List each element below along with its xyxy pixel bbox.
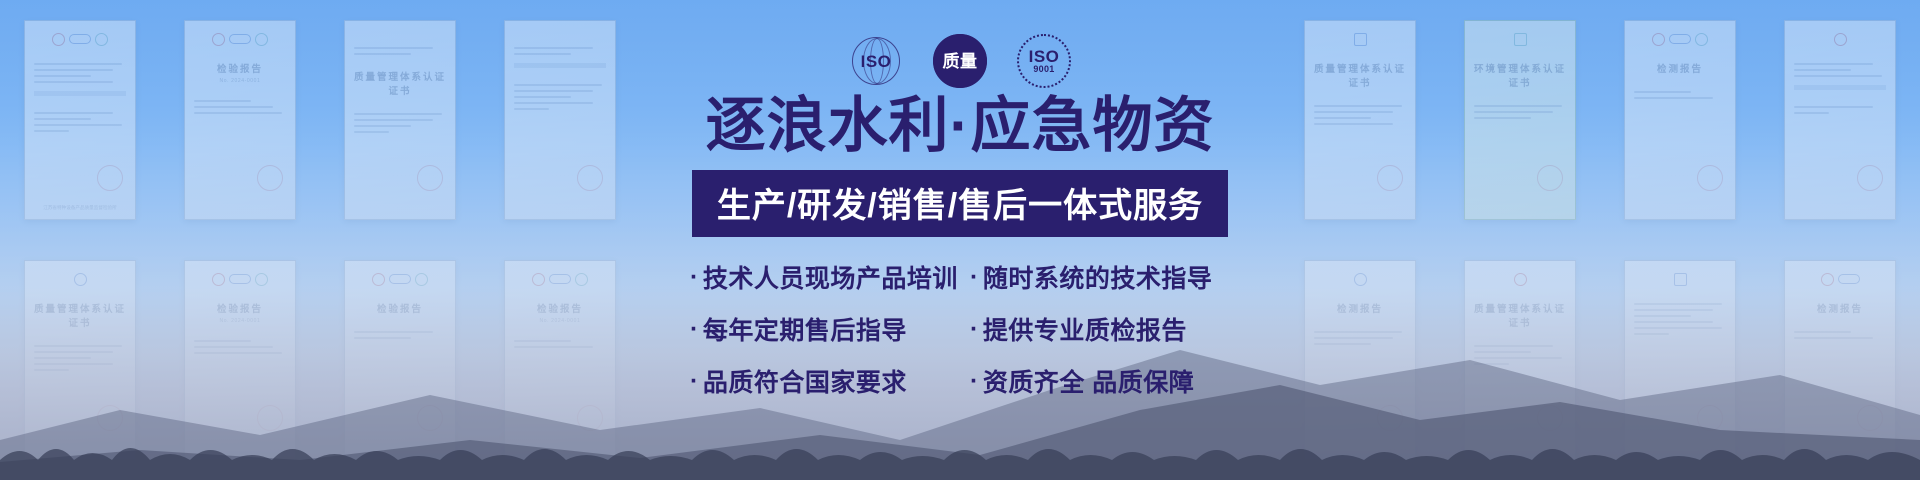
certificate-card: 江苏省特种设备产品质量监督检验所: [24, 20, 136, 220]
feature-item: · 品质符合国家要求: [690, 363, 970, 399]
feature-label: 随时系统的技术指导: [983, 259, 1213, 295]
feature-list: · 技术人员现场产品培训 · 随时系统的技术指导 · 每年定期售后指导 · 提供…: [660, 259, 1260, 399]
feature-item: · 随时系统的技术指导: [970, 259, 1230, 295]
certificate-card: [1784, 20, 1896, 220]
bullet-icon: ·: [970, 315, 979, 344]
iso-globe-badge-icon: ISO: [849, 34, 903, 88]
certificate-card: 质量管理体系认证证书: [1304, 20, 1416, 220]
bullet-icon: ·: [970, 263, 979, 292]
certificate-cell: 质量管理体系认证证书: [320, 0, 480, 240]
bullet-icon: ·: [970, 367, 979, 396]
emblem-icon: [95, 33, 108, 46]
certificate-card: 环境管理体系认证证书: [1464, 20, 1576, 220]
bullet-icon: ·: [690, 367, 699, 396]
certificate-cell: [1760, 0, 1920, 240]
certificate-footer: 江苏省特种设备产品质量监督检验所: [25, 205, 135, 211]
certificate-cell: 检测报告: [1600, 0, 1760, 240]
feature-label: 技术人员现场产品培训: [703, 259, 958, 295]
feature-label: 每年定期售后指导: [703, 311, 907, 347]
certificate-title: 环境管理体系认证证书: [1474, 61, 1566, 89]
certificate-title: 质量管理体系认证证书: [1314, 61, 1406, 89]
banner-content: 逐浪水利·应急物资 生产/研发/销售/售后一体式服务 · 技术人员现场产品培训 …: [660, 96, 1260, 399]
certificate-card: [504, 20, 616, 220]
emblem-icon: [52, 33, 65, 46]
feature-item: · 提供专业质检报告: [970, 311, 1230, 347]
quality-seal-badge-icon: 质量: [933, 34, 987, 88]
certificate-cell: [480, 0, 640, 240]
certificate-emblems: [34, 31, 126, 47]
feature-item: · 资质齐全 品质保障: [970, 363, 1230, 399]
certificate-subtitle: No. 2024-0001: [194, 78, 286, 84]
certificate-cell: 质量管理体系认证证书: [1280, 0, 1440, 240]
page-title: 逐浪水利·应急物资: [660, 96, 1260, 156]
bullet-icon: ·: [690, 315, 699, 344]
certificate-title: 检验报告: [194, 61, 286, 75]
feature-label: 品质符合国家要求: [703, 363, 907, 399]
certificate-card: 质量管理体系认证证书: [344, 20, 456, 220]
feature-item: · 每年定期售后指导: [690, 311, 970, 347]
certification-badge-row: ISO 质量 ISO 9001: [849, 34, 1071, 88]
treeline-silhouette: [0, 420, 1920, 480]
certificate-lines: [34, 63, 126, 83]
emblem-icon: [69, 34, 91, 44]
certificate-cell: 环境管理体系认证证书: [1440, 0, 1600, 240]
promo-banner: 江苏省特种设备产品质量监督检验所 检验报告 No. 2024-0001 质量管理…: [0, 0, 1920, 480]
certificate-cell: 检验报告 No. 2024-0001: [160, 0, 320, 240]
certificate-seal: [97, 165, 123, 191]
feature-item: · 技术人员现场产品培训: [690, 259, 970, 295]
feature-label: 资质齐全 品质保障: [983, 363, 1194, 399]
service-subtitle-bar: 生产/研发/销售/售后一体式服务: [692, 170, 1228, 237]
certificate-card: 检验报告 No. 2024-0001: [184, 20, 296, 220]
bullet-icon: ·: [690, 263, 699, 292]
certificate-title: 质量管理体系认证证书: [354, 69, 446, 97]
certificate-cell: 江苏省特种设备产品质量监督检验所: [0, 0, 160, 240]
iso9001-badge-icon: ISO 9001: [1017, 34, 1071, 88]
certificate-title: 检测报告: [1634, 61, 1726, 75]
certificate-card: 检测报告: [1624, 20, 1736, 220]
feature-label: 提供专业质检报告: [983, 311, 1187, 347]
